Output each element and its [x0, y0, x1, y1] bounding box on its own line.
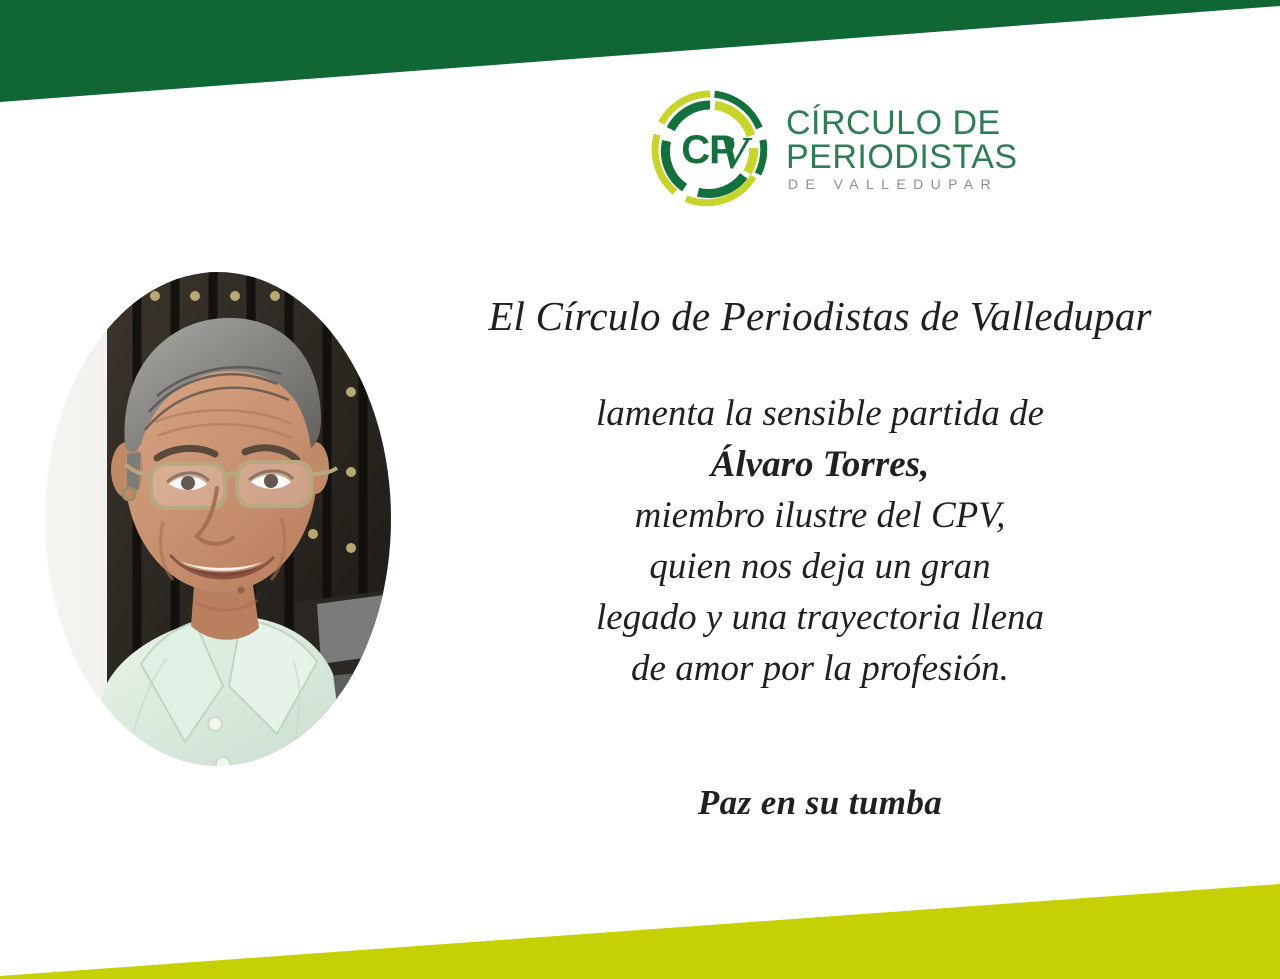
- message-line: miembro ilustre del CPV,: [420, 490, 1220, 541]
- svg-text:V: V: [719, 127, 753, 178]
- message-line: legado y una trayectoria llena: [420, 592, 1220, 643]
- wordmark-line-1: CÍRCULO DE: [786, 106, 1018, 140]
- cpv-wordmark: CÍRCULO DE PERIODISTAS DE VALLEDUPAR: [786, 104, 1018, 194]
- message-body: lamenta la sensible partida de Álvaro To…: [420, 388, 1220, 694]
- portrait-photo: [45, 272, 391, 766]
- message-line: lamenta la sensible partida de: [420, 388, 1220, 439]
- cpv-logo: CP V CÍRCULO DE PERIODISTAS DE VALLEDUPA…: [648, 88, 1008, 210]
- wordmark-line-2: PERIODISTAS: [786, 140, 1018, 174]
- deceased-name: Álvaro Torres,: [420, 439, 1220, 490]
- bottom-lime-band: [0, 860, 1280, 979]
- condolence-message: El Círculo de Periodistas de Valledupar …: [420, 292, 1220, 824]
- message-closing: Paz en su tumba: [420, 782, 1220, 824]
- cpv-circle-logo-icon: CP V: [648, 88, 772, 210]
- message-line: quien nos deja un gran: [420, 541, 1220, 592]
- wordmark-subtitle: DE VALLEDUPAR: [786, 174, 1018, 194]
- top-green-band: [0, 0, 1280, 120]
- message-title: El Círculo de Periodistas de Valledupar: [420, 292, 1220, 340]
- obituary-card: CP V CÍRCULO DE PERIODISTAS DE VALLEDUPA…: [0, 0, 1280, 979]
- message-line: de amor por la profesión.: [420, 643, 1220, 694]
